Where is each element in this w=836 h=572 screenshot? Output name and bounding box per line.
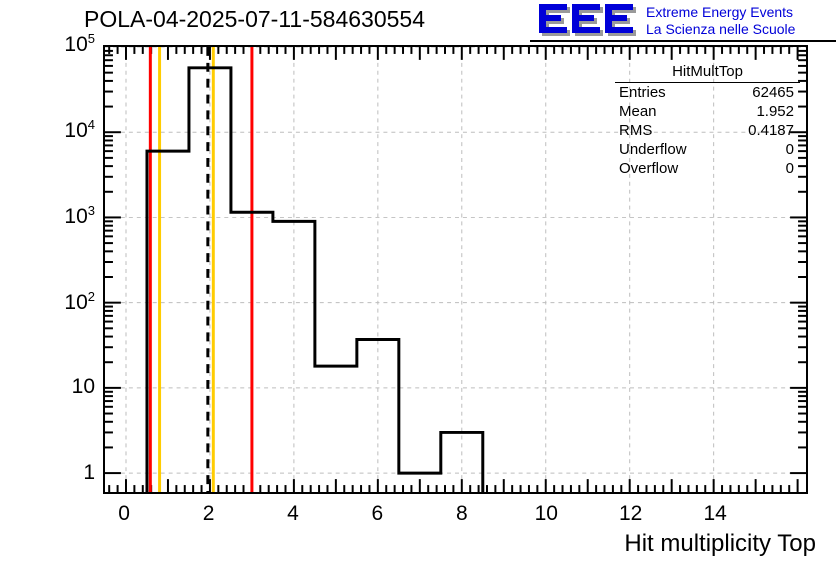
header-divider: [530, 40, 836, 42]
stats-row: Overflow0: [615, 159, 800, 178]
stats-row: RMS0.4187: [615, 121, 800, 140]
stats-row-value: 0: [786, 141, 794, 158]
x-tick-label: 10: [516, 502, 576, 526]
stats-row-value: 0.4187: [748, 122, 794, 139]
stats-row: Underflow0: [615, 140, 800, 159]
logo-line-1: Extreme Energy Events: [646, 4, 795, 21]
marker-lines: [150, 47, 252, 492]
x-tick-label: 14: [685, 502, 745, 526]
stats-row-key: Mean: [619, 103, 657, 120]
logo-line-2: La Scienza nelle Scuole: [646, 21, 795, 38]
y-tick-label: 104: [0, 117, 95, 143]
x-tick-label: 2: [179, 502, 239, 526]
y-tick-label: 1: [0, 461, 95, 485]
x-axis-title: Hit multiplicity Top: [624, 530, 816, 558]
page-title: POLA-04-2025-07-11-584630554: [84, 6, 425, 33]
stats-title: HitMultTop: [615, 62, 800, 83]
stats-box: HitMultTop Entries62465Mean1.952RMS0.418…: [615, 62, 800, 178]
eee-logo: Extreme Energy Events La Scienza nelle S…: [536, 2, 834, 42]
x-tick-label: 8: [432, 502, 492, 526]
stats-row: Mean1.952: [615, 102, 800, 121]
logo-caption: Extreme Energy Events La Scienza nelle S…: [646, 4, 795, 38]
x-tick-label: 0: [94, 502, 154, 526]
stats-row-value: 62465: [752, 84, 794, 101]
stats-row-value: 0: [786, 160, 794, 177]
stats-row-value: 1.952: [756, 103, 794, 120]
stats-rows: Entries62465Mean1.952RMS0.4187Underflow0…: [615, 83, 800, 178]
y-tick-label: 102: [0, 289, 95, 315]
stats-row-key: Overflow: [619, 160, 678, 177]
stats-row-key: RMS: [619, 122, 652, 139]
root-canvas: POLA-04-2025-07-11-584630554 Extreme Ene…: [0, 0, 836, 572]
y-tick-label: 10: [0, 375, 95, 399]
stats-row: Entries62465: [615, 83, 800, 102]
y-tick-label: 103: [0, 203, 95, 229]
x-tick-label: 4: [263, 502, 323, 526]
y-tick-label: 105: [0, 31, 95, 57]
stats-row-key: Entries: [619, 84, 666, 101]
histogram-outline: [147, 68, 483, 492]
x-tick-label: 12: [601, 502, 661, 526]
x-tick-label: 6: [347, 502, 407, 526]
stats-row-key: Underflow: [619, 141, 687, 158]
eee-mark-icon: [536, 3, 640, 39]
